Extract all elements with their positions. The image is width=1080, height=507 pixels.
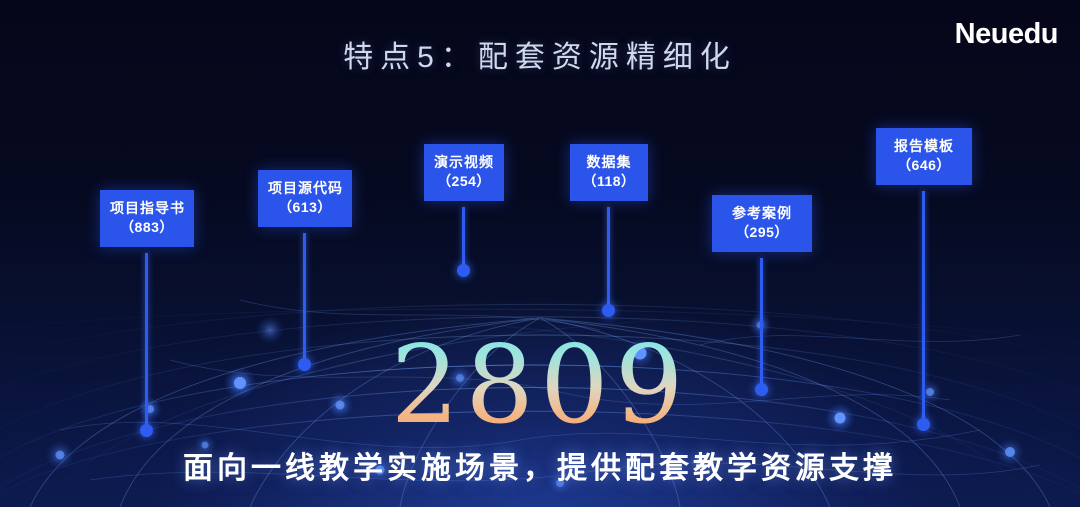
- callout-box[interactable]: 项目源代码 （613）: [258, 170, 352, 227]
- callout-box[interactable]: 演示视频 （254）: [424, 144, 504, 201]
- callout-caption: 参考案例: [722, 204, 802, 222]
- callout-box[interactable]: 项目指导书 （883）: [100, 190, 194, 247]
- page-title: 特点5：配套资源精细化: [0, 32, 1080, 76]
- callout-endpoint-dot: [457, 264, 470, 277]
- callout-count: （883）: [110, 218, 184, 236]
- callout-caption: 演示视频: [434, 153, 494, 171]
- slide-canvas: 特点5：配套资源精细化 Neuedu 项目指导书 （883） 项目源代码 （61…: [0, 0, 1080, 507]
- callout-count: （254）: [434, 172, 494, 190]
- callout-count: （613）: [268, 198, 342, 216]
- callout-count: （646）: [886, 156, 962, 174]
- callout-box[interactable]: 参考案例 （295）: [712, 195, 812, 252]
- callout-count: （118）: [580, 172, 638, 190]
- callout-caption: 项目源代码: [268, 179, 342, 197]
- total-resource-count: 2809: [0, 332, 1080, 440]
- callout-stem: [462, 207, 465, 269]
- callout-caption: 项目指导书: [110, 199, 184, 217]
- tagline: 面向一线教学实施场景，提供配套教学资源支撑: [0, 443, 1080, 487]
- callout-box[interactable]: 数据集 （118）: [570, 144, 648, 201]
- brand-logo: Neuedu: [955, 18, 1058, 51]
- callout-caption: 数据集: [580, 153, 638, 171]
- callout-stem: [607, 207, 610, 309]
- callout-box[interactable]: 报告模板 （646）: [876, 128, 972, 185]
- callout-caption: 报告模板: [886, 137, 962, 155]
- callout-count: （295）: [722, 223, 802, 241]
- callout-endpoint-dot: [602, 304, 615, 317]
